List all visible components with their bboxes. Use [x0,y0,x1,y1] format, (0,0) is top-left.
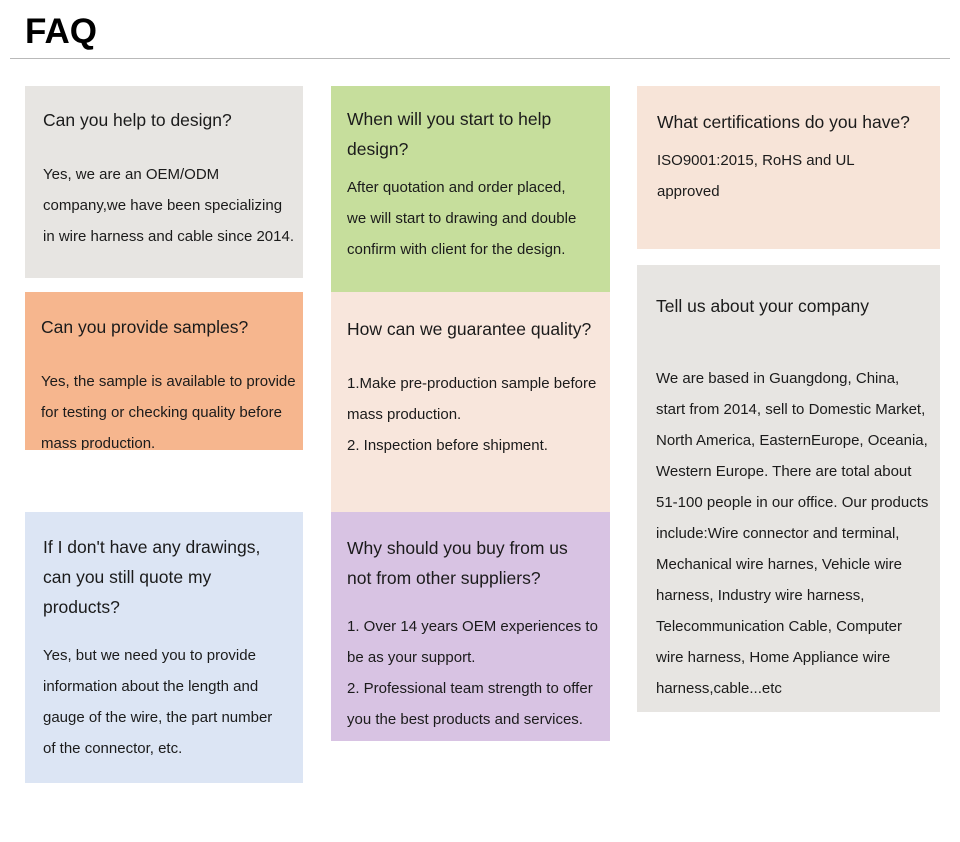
faq-card-samples: Can you provide samples? Yes, the sample… [25,292,303,450]
spacer [43,135,285,159]
spacer [347,593,594,611]
faq-answer: ISO9001:2015, RoHS and UL approved [657,145,920,207]
spacer [657,137,920,145]
answer-line: 1.Make pre-production sample before [347,368,594,399]
spacer [43,622,285,640]
faq-question: Can you provide samples? [41,312,287,342]
answer-line: 1. Over 14 years OEM experiences to [347,611,594,642]
spacer [656,321,921,363]
answer-line: harness, Industry wire harness, [656,580,921,611]
faq-answer: We are based in Guangdong, China, start … [656,363,921,704]
faq-answer: Yes, but we need you to provide informat… [43,640,285,764]
answer-line: Telecommunication Cable, Computer [656,611,921,642]
faq-answer: After quotation and order placed, we wil… [347,172,594,265]
answer-line: be as your support. [347,642,594,673]
answer-line: harness,cable...etc [656,673,921,704]
faq-question: What certifications do you have? [657,107,920,137]
spacer [347,164,594,172]
answer-line: company,we have been specializing [43,190,285,221]
faq-answer: 1.Make pre-production sample before mass… [347,368,594,461]
answer-line: We are based in Guangdong, China, [656,363,921,394]
answer-line: wire harness, Home Appliance wire [656,642,921,673]
answer-line: Yes, we are an OEM/ODM [43,159,285,190]
answer-line: After quotation and order placed, [347,172,594,203]
faq-question: How can we guarantee quality? [347,314,594,344]
answer-line: for testing or checking quality before [41,397,287,428]
page-title: FAQ [25,11,97,53]
answer-line: mass production. [347,399,594,430]
faq-card-company: Tell us about your company We are based … [637,265,940,712]
answer-line: you the best products and services. [347,704,594,735]
answer-line: information about the length and [43,671,285,702]
faq-question: Tell us about your company [656,291,921,321]
faq-card-design: Can you help to design? Yes, we are an O… [25,86,303,278]
answer-line: mass production. [41,428,287,450]
faq-card-drawings: If I don't have any drawings, can you st… [25,512,303,783]
faq-card-quality: How can we guarantee quality? 1.Make pre… [331,292,610,548]
answer-line: 2. Professional team strength to offer [347,673,594,704]
answer-line: ISO9001:2015, RoHS and UL [657,145,920,176]
answer-line: gauge of the wire, the part number [43,702,285,733]
answer-line: Yes, the sample is available to provide [41,366,287,397]
answer-line: North America, EasternEurope, Oceania, [656,425,921,456]
answer-line: start from 2014, sell to Domestic Market… [656,394,921,425]
answer-line: in wire harness and cable since 2014. [43,221,285,252]
faq-answer: Yes, we are an OEM/ODM company,we have b… [43,159,285,252]
page-header: FAQ [0,0,960,60]
spacer [347,344,594,368]
spacer [41,342,287,366]
answer-line: include:Wire connector and terminal, [656,518,921,549]
answer-line: Mechanical wire harnes, Vehicle wire [656,549,921,580]
faq-answer: Yes, the sample is available to provide … [41,366,287,450]
answer-line: of the connector, etc. [43,733,285,764]
faq-question: When will you start to help design? [347,104,594,164]
answer-line: approved [657,176,920,207]
answer-line: 51-100 people in our office. Our product… [656,487,921,518]
answer-line: confirm with client for the design. [347,234,594,265]
faq-question: If I don't have any drawings, can you st… [43,532,285,622]
answer-line: we will start to drawing and double [347,203,594,234]
faq-answer: 1. Over 14 years OEM experiences to be a… [347,611,594,735]
answer-line: Yes, but we need you to provide [43,640,285,671]
faq-card-why-us: Why should you buy from us not from othe… [331,512,610,741]
faq-question: Why should you buy from us not from othe… [347,533,594,593]
faq-question: Can you help to design? [43,105,285,135]
header-divider [10,58,950,59]
faq-card-certifications: What certifications do you have? ISO9001… [637,86,940,249]
answer-line: 2. Inspection before shipment. [347,430,594,461]
faq-card-grid: Can you help to design? Yes, we are an O… [0,60,960,842]
faq-card-start-design: When will you start to help design? Afte… [331,86,610,303]
answer-line: Western Europe. There are total about [656,456,921,487]
